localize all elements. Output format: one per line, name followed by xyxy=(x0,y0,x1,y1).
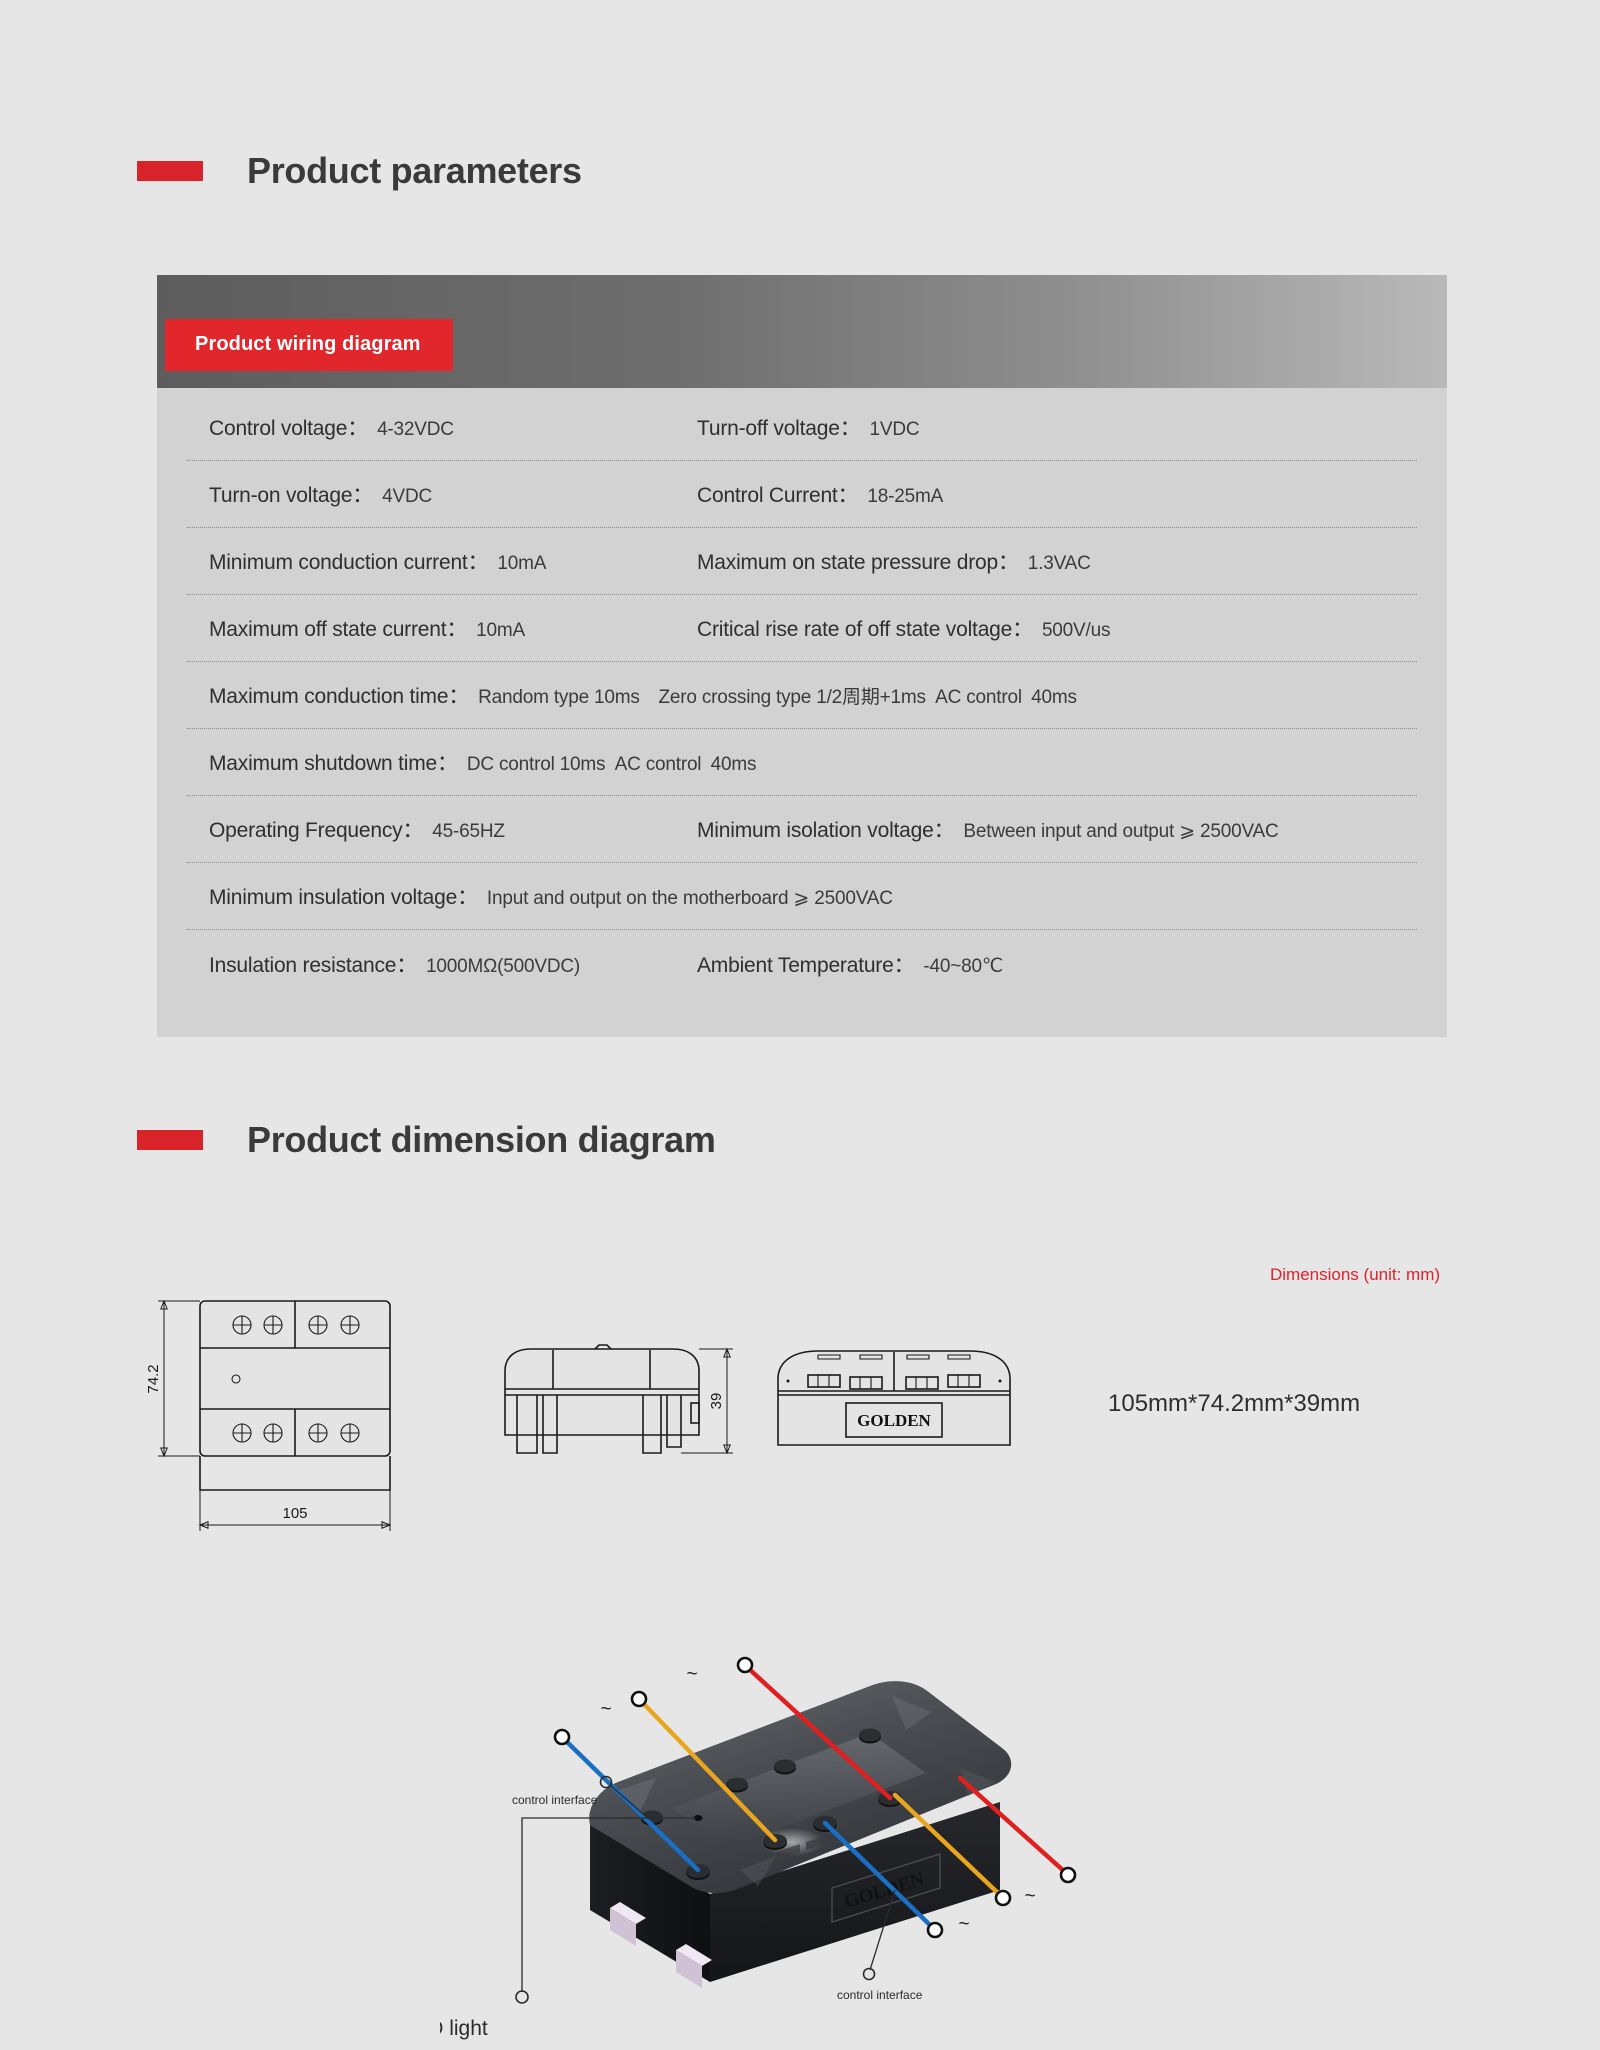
param-label: Minimum isolation voltage： xyxy=(697,814,954,844)
callout-label: Input LED light xyxy=(440,2017,488,2040)
param-cell-control-voltage: Control voltage： 4-32VDC xyxy=(187,412,697,442)
param-cell-maximum-shutdown-time: Maximum shutdown time： DC control 10ms A… xyxy=(187,747,1417,777)
screw-terminal-icon xyxy=(233,1316,251,1334)
section-heading-dimensions: Product dimension diagram xyxy=(137,1119,716,1161)
param-label: Control voltage： xyxy=(209,412,368,442)
ac-symbol: ~ xyxy=(686,1664,697,1685)
side-view-drawing: 39 xyxy=(495,1335,745,1465)
param-value: Between input and output ⩾ 2500VAC xyxy=(963,820,1278,843)
param-value: 4-32VDC xyxy=(377,419,454,441)
param-cell-critical-rise-rate: Critical rise rate of off state voltage：… xyxy=(697,613,1417,643)
screw-terminal-icon xyxy=(264,1316,282,1334)
page-title: Product parameters xyxy=(247,150,582,192)
param-cell-minimum-conduction-current: Minimum conduction current： 10mA xyxy=(187,546,697,576)
param-label: Maximum on state pressure drop： xyxy=(697,546,1019,576)
param-value: 10mA xyxy=(476,620,525,642)
table-row: Operating Frequency： 45-65HZ Minimum iso… xyxy=(187,796,1417,863)
param-value: 10mA xyxy=(497,553,546,575)
product-wiring-diagram-tab[interactable]: Product wiring diagram xyxy=(165,319,453,371)
table-row: Maximum conduction time： Random type 10m… xyxy=(187,662,1417,729)
param-cell-turn-on-voltage: Turn-on voltage： 4VDC xyxy=(187,479,697,509)
param-label: Maximum off state current： xyxy=(209,613,467,643)
param-cell-maximum-conduction-time: Maximum conduction time： Random type 10m… xyxy=(187,680,1417,710)
param-value: 1VDC xyxy=(870,419,920,441)
param-value: 1000MΩ(500VDC) xyxy=(426,956,580,978)
brand-label-front-view: GOLDEN xyxy=(857,1411,931,1430)
product-parameters-panel: Product wiring diagram Control voltage： … xyxy=(157,275,1447,1037)
param-value: DC control 10ms AC control 40ms xyxy=(467,754,756,776)
param-value: -40~80℃ xyxy=(923,955,1003,978)
param-value: 500V/us xyxy=(1042,620,1110,642)
ac-symbol: ~ xyxy=(1024,1886,1035,1907)
param-value: Input and output on the motherboard ⩾ 25… xyxy=(487,887,893,910)
heading-accent-bar xyxy=(137,1130,203,1150)
param-value: 4VDC xyxy=(382,486,432,508)
param-label: Minimum conduction current： xyxy=(209,546,488,576)
table-row: Control voltage： 4-32VDC Turn-off voltag… xyxy=(187,394,1417,461)
param-cell-operating-frequency: Operating Frequency： 45-65HZ xyxy=(187,814,697,844)
param-value: 18-25mA xyxy=(867,486,943,508)
table-row: Maximum off state current： 10mA Critical… xyxy=(187,595,1417,662)
param-value: 45-65HZ xyxy=(432,821,505,843)
section-heading-parameters: Product parameters xyxy=(137,150,582,192)
parameter-table: Control voltage： 4-32VDC Turn-off voltag… xyxy=(157,388,1447,1037)
table-row: Minimum insulation voltage： Input and ou… xyxy=(187,863,1417,930)
section-title-dimensions: Product dimension diagram xyxy=(247,1119,716,1161)
param-cell-insulation-resistance: Insulation resistance： 1000MΩ(500VDC) xyxy=(187,949,697,979)
param-label: Control Current： xyxy=(697,479,858,509)
param-cell-control-current: Control Current： 18-25mA xyxy=(697,479,1417,509)
param-cell-turn-off-voltage: Turn-off voltage： 1VDC xyxy=(697,412,1417,442)
panel-header-bar: Product wiring diagram xyxy=(157,275,1447,388)
param-value: Random type 10ms Zero crossing type 1/2周… xyxy=(478,682,1077,709)
screw-terminal-icon xyxy=(341,1424,359,1442)
param-label: Operating Frequency： xyxy=(209,814,423,844)
param-label: Maximum shutdown time： xyxy=(209,747,458,777)
param-label: Turn-on voltage： xyxy=(209,479,373,509)
param-cell-ambient-temperature: Ambient Temperature： -40~80℃ xyxy=(697,949,1417,979)
param-cell-maximum-on-state-pressure-drop: Maximum on state pressure drop： 1.3VAC xyxy=(697,546,1417,576)
front-view-drawing: GOLDEN xyxy=(770,1335,1040,1465)
param-label: Ambient Temperature： xyxy=(697,949,914,979)
callout-label: control interface xyxy=(837,1988,923,2002)
screw-terminal-icon xyxy=(309,1424,327,1442)
dimension-width-105: 105 xyxy=(200,1490,390,1531)
param-label: Insulation resistance： xyxy=(209,949,417,979)
param-label: Minimum insulation voltage： xyxy=(209,881,478,911)
table-row: Insulation resistance： 1000MΩ(500VDC) Am… xyxy=(187,930,1417,997)
top-view-drawing: 74.2 105 xyxy=(140,1285,470,1555)
table-row: Maximum shutdown time： DC control 10ms A… xyxy=(187,729,1417,796)
screw-terminal-icon xyxy=(341,1316,359,1334)
param-cell-minimum-isolation-voltage: Minimum isolation voltage： Between input… xyxy=(697,814,1417,844)
callout-label: control interface xyxy=(512,1793,598,1807)
product-3d-render: GOLDEN ~ ~ ~ ~ xyxy=(440,1490,1240,2050)
dimension-height-74-2: 74.2 xyxy=(145,1301,200,1456)
table-row: Minimum conduction current： 10mA Maximum… xyxy=(187,528,1417,595)
dimension-label-height: 74.2 xyxy=(145,1364,162,1393)
param-label: Critical rise rate of off state voltage： xyxy=(697,613,1033,643)
heading-accent-bar xyxy=(137,161,203,181)
dimension-diagram-area: 74.2 105 xyxy=(0,1240,1600,2050)
dimension-label-width: 105 xyxy=(282,1505,307,1522)
param-label: Maximum conduction time： xyxy=(209,680,469,710)
screw-terminal-icon xyxy=(309,1316,327,1334)
param-value: 1.3VAC xyxy=(1028,553,1091,575)
ac-symbol: ~ xyxy=(958,1914,969,1935)
param-cell-maximum-off-state-current: Maximum off state current： 10mA xyxy=(187,613,697,643)
table-row: Turn-on voltage： 4VDC Control Current： 1… xyxy=(187,461,1417,528)
screw-terminal-icon xyxy=(233,1424,251,1442)
param-cell-minimum-insulation-voltage: Minimum insulation voltage： Input and ou… xyxy=(187,881,1417,911)
dimension-label-side-height: 39 xyxy=(708,1393,725,1410)
screw-terminal-icon xyxy=(264,1424,282,1442)
ac-symbol: ~ xyxy=(600,1699,611,1720)
param-label: Turn-off voltage： xyxy=(697,412,861,442)
